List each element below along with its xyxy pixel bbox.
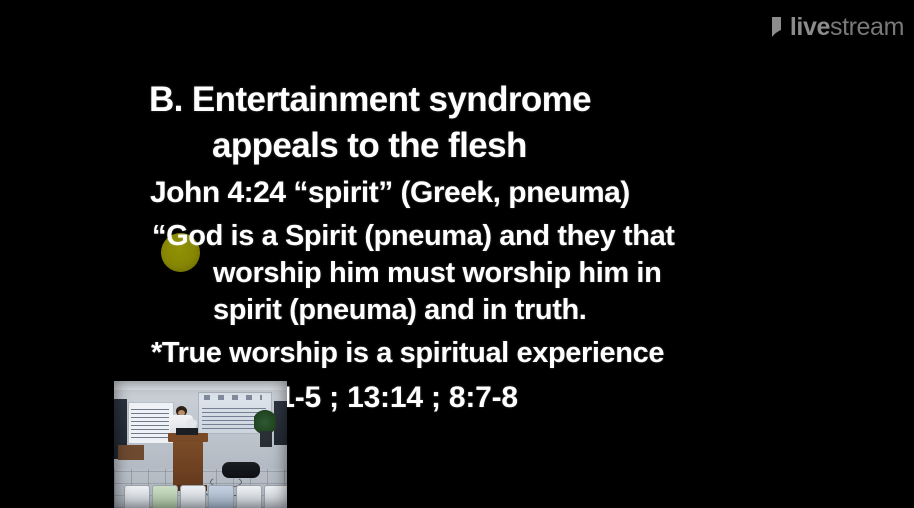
livestream-player-stage: B. Entertainment syndrome appeals to the… xyxy=(0,0,914,508)
chair-row xyxy=(114,485,287,508)
speaker-camera-inset[interactable] xyxy=(114,381,287,508)
chair xyxy=(208,485,234,508)
projection-screen-header xyxy=(204,395,262,400)
chair xyxy=(124,485,150,508)
livestream-wordmark-light: stream xyxy=(830,13,904,41)
chair xyxy=(264,485,287,508)
inset-scene xyxy=(114,381,287,508)
livestream-flag-icon xyxy=(771,14,787,40)
slide-heading-line-1: B. Entertainment syndrome xyxy=(149,80,591,120)
livestream-wordmark-bold: live xyxy=(790,13,830,41)
livestream-watermark: livestream xyxy=(771,14,904,40)
slide-note-line: *True worship is a spiritual experience xyxy=(151,337,664,370)
chair xyxy=(152,485,178,508)
podium-laptop xyxy=(176,428,198,435)
slide-heading-line-2: appeals to the flesh xyxy=(212,126,527,166)
livestream-wordmark: livestream xyxy=(790,14,904,40)
room-ceiling xyxy=(114,381,287,390)
laser-pointer-dot xyxy=(161,233,200,272)
wall-poster-text xyxy=(131,407,169,438)
slide-quote-line-1: “God is a Spirit (pneuma) and they that xyxy=(152,220,675,253)
chair xyxy=(180,485,206,508)
slide-verse-reference: John 4:24 “spirit” (Greek, pneuma) xyxy=(150,176,630,210)
chair xyxy=(236,485,262,508)
slide-quote-line-2: worship him must worship him in xyxy=(213,257,661,290)
slide-quote-line-3: spirit (pneuma) and in truth. xyxy=(213,294,586,327)
podium-body xyxy=(173,442,203,488)
plant-stand xyxy=(260,431,272,447)
potted-plant xyxy=(254,409,276,433)
side-table xyxy=(118,445,144,460)
